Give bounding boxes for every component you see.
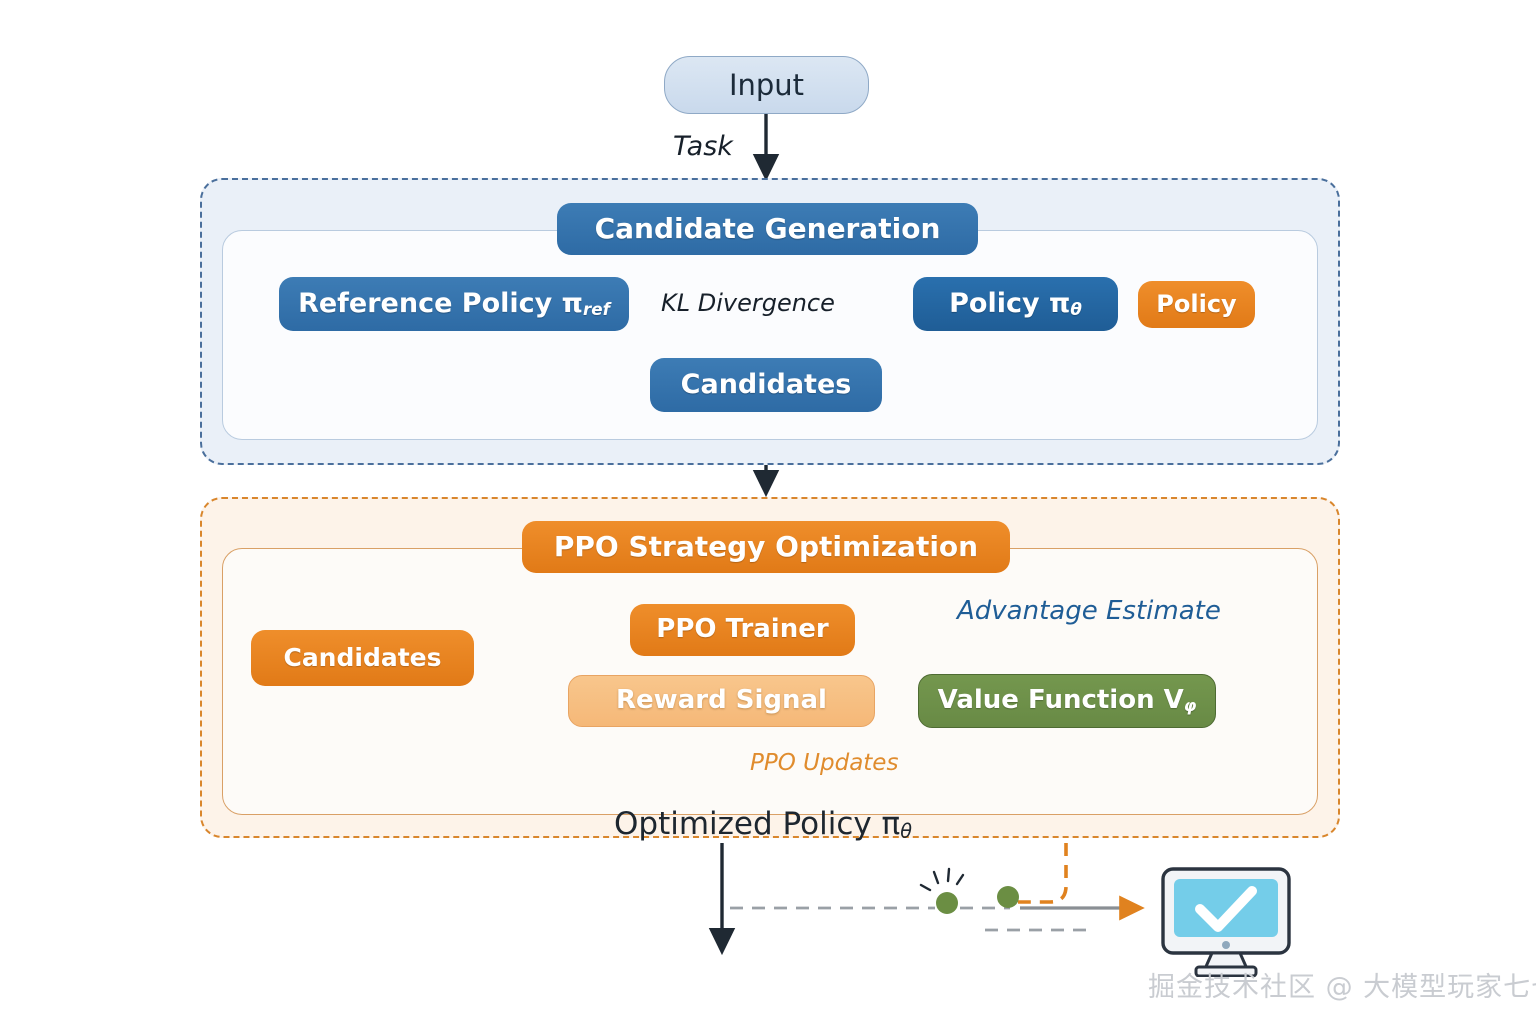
- candidates-label-stage2: Candidates: [283, 645, 441, 671]
- reward-signal-node[interactable]: Reward Signal: [568, 675, 875, 727]
- candidate-generation-header[interactable]: Candidate Generation: [557, 203, 978, 255]
- edge-label-kl-divergence: KL Divergence: [661, 289, 835, 317]
- watermark-text: 掘金技术社区 @ 大模型玩家七七: [1148, 965, 1536, 1004]
- candidates-label-stage1: Candidates: [681, 371, 852, 399]
- edge-label-ppo-updates: PPO Updates: [750, 750, 898, 776]
- value-function-node[interactable]: Value Function Vφ: [918, 674, 1216, 728]
- candidates-node-stage2[interactable]: Candidates: [251, 630, 474, 686]
- policy-theta-node[interactable]: Policy πθ: [913, 277, 1118, 331]
- candidates-node-stage1[interactable]: Candidates: [650, 358, 882, 412]
- diagram-canvas: Input Task Candidate Generation Referenc…: [0, 0, 1536, 1024]
- candidate-generation-header-label: Candidate Generation: [595, 214, 941, 243]
- monitor-check-icon: [1160, 867, 1292, 977]
- input-label: Input: [729, 70, 804, 100]
- ppo-trainer-label: PPO Trainer: [656, 616, 828, 643]
- value-function-label: Value Function Vφ: [938, 687, 1197, 715]
- input-node[interactable]: Input: [664, 56, 869, 114]
- reference-policy-label: Reference Policy πref: [298, 290, 610, 319]
- edge-label-advantage-estimate: Advantage Estimate: [957, 596, 1221, 626]
- policy-badge-node[interactable]: Policy: [1138, 281, 1255, 328]
- optimized-policy-node[interactable]: Optimized Policy πθ: [604, 806, 922, 842]
- edge-label-task: Task: [673, 131, 733, 162]
- optimized-policy-label: Optimized Policy πθ: [614, 806, 912, 842]
- edge-bottom-to-monitor: [730, 843, 1140, 930]
- ppo-optimization-header-label: PPO Strategy Optimization: [554, 532, 978, 561]
- ppo-optimization-header[interactable]: PPO Strategy Optimization: [522, 521, 1010, 573]
- policy-badge-label: Policy: [1156, 292, 1236, 317]
- reward-signal-label: Reward Signal: [616, 687, 827, 714]
- policy-theta-label: Policy πθ: [949, 290, 1082, 319]
- ppo-trainer-node[interactable]: PPO Trainer: [630, 604, 855, 656]
- reference-policy-node[interactable]: Reference Policy πref: [279, 277, 629, 331]
